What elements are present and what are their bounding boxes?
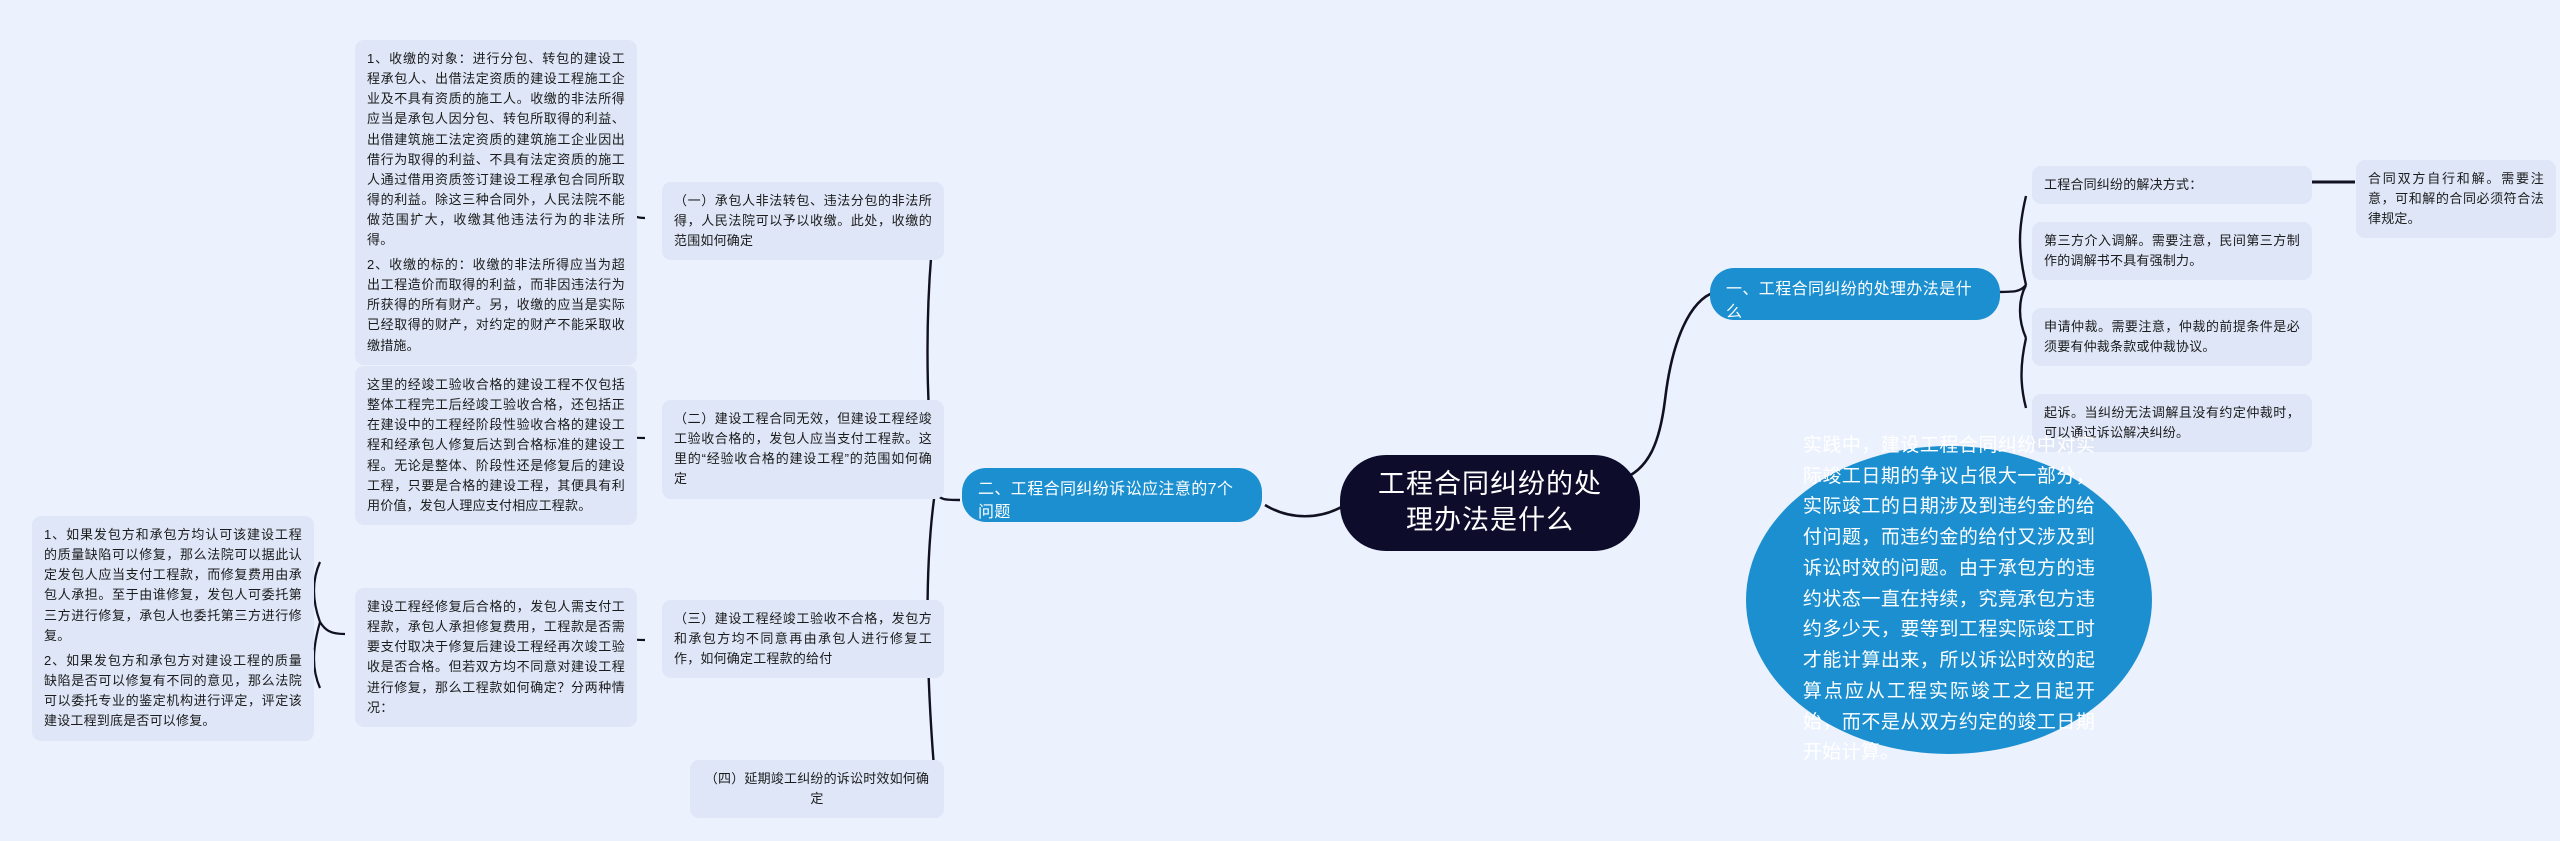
branch2-item-2-text: （二）建设工程合同无效，但建设工程经竣工验收合格的，发包人应当支付工程款。这里的… [674,411,932,486]
branch2-item-1-text: （一）承包人非法转包、违法分包的非法所得，人民法院可以予以收缴。此处，收缴的范围… [674,193,932,248]
branch1-group-label-text: 工程合同纠纷的解决方式： [2044,177,2202,192]
branch2-item-3-text: （三）建设工程经竣工验收不合格，发包方和承包方均不同意再由承包人进行修复工作，如… [674,611,932,666]
branch2-item-4-text: （四）延期竣工纠纷的诉讼时效如何确定 [705,771,929,806]
branch2-item-1-child-1[interactable]: 1、收缴的对象：进行分包、转包的建设工程承包人、出借法定资质的建设工程施工企业及… [355,40,637,259]
branch2-item-1[interactable]: （一）承包人非法转包、违法分包的非法所得，人民法院可以予以收缴。此处，收缴的范围… [662,182,944,260]
branch-node-2-label: 二、工程合同纠纷诉讼应注意的7个问题 [978,481,1233,521]
branch2-item-3-grandchild-2[interactable]: 2、如果发包方和承包方对建设工程的质量缺陷是否可以修复有不同的意见，那么法院可以… [32,642,314,741]
branch1-group-label[interactable]: 工程合同纠纷的解决方式： [2032,166,2312,204]
branch1-method-1[interactable]: 合同双方自行和解。需要注意，可和解的合同必须符合法律规定。 [2356,160,2556,238]
branch2-item-3-child-1[interactable]: 建设工程经修复后合格的，发包人需支付工程款，承包人承担修复费用，工程款是否需要支… [355,588,637,727]
branch2-item-3-grandchild-1[interactable]: 1、如果发包方和承包方均认可该建设工程的质量缺陷可以修复，那么法院可以据此认定发… [32,516,314,655]
branch1-method-3-text: 申请仲裁。需要注意，仲裁的前提条件是必须要有仲裁条款或仲裁协议。 [2044,319,2300,354]
branch2-item-4[interactable]: （四）延期竣工纠纷的诉讼时效如何确定 [690,760,944,818]
branch2-item-2-child-1[interactable]: 这里的经竣工验收合格的建设工程不仅包括整体工程完工后经竣工验收合格，还包括正在建… [355,366,637,525]
branch1-method-3[interactable]: 申请仲裁。需要注意，仲裁的前提条件是必须要有仲裁条款或仲裁协议。 [2032,308,2312,366]
branch2-item-1-child-2[interactable]: 2、收缴的标的：收缴的非法所得应当为超出工程造价而取得的利益，而非因违法行为所获… [355,246,637,365]
mindmap-canvas: 工程合同纠纷的处理办法是什么 一、工程合同纠纷的处理办法是什么 工程合同纠纷的解… [0,0,2560,841]
branch2-item-2-child-1-text: 这里的经竣工验收合格的建设工程不仅包括整体工程完工后经竣工验收合格，还包括正在建… [367,377,625,513]
branch1-method-1-text: 合同双方自行和解。需要注意，可和解的合同必须符合法律规定。 [2368,171,2544,226]
branch2-item-3-child-1-text: 建设工程经修复后合格的，发包人需支付工程款，承包人承担修复费用，工程款是否需要支… [367,599,625,715]
branch-node-1-label: 一、工程合同纠纷的处理办法是什么 [1726,281,1972,321]
summary-bubble[interactable]: 实践中，建设工程合同纠纷中对实际竣工日期的争议占很大一部分，实际竣工的日期涉及到… [1746,446,2152,754]
branch2-item-1-child-1-text: 1、收缴的对象：进行分包、转包的建设工程承包人、出借法定资质的建设工程施工企业及… [367,51,625,247]
branch2-item-3-grandchild-1-text: 1、如果发包方和承包方均认可该建设工程的质量缺陷可以修复，那么法院可以据此认定发… [44,527,302,643]
branch-node-1[interactable]: 一、工程合同纠纷的处理办法是什么 [1710,268,2000,320]
branch2-item-1-child-2-text: 2、收缴的标的：收缴的非法所得应当为超出工程造价而取得的利益，而非因违法行为所获… [367,257,625,353]
branch1-method-2[interactable]: 第三方介入调解。需要注意，民间第三方制作的调解书不具有强制力。 [2032,222,2312,280]
summary-bubble-text: 实践中，建设工程合同纠纷中对实际竣工日期的争议占很大一部分，实际竣工的日期涉及到… [1803,431,2095,769]
center-node-title: 工程合同纠纷的处理办法是什么 [1366,467,1614,538]
branch2-item-3[interactable]: （三）建设工程经竣工验收不合格，发包方和承包方均不同意再由承包人进行修复工作，如… [662,600,944,678]
branch-node-2[interactable]: 二、工程合同纠纷诉讼应注意的7个问题 [962,468,1262,522]
branch1-method-2-text: 第三方介入调解。需要注意，民间第三方制作的调解书不具有强制力。 [2044,233,2300,268]
branch2-item-3-grandchild-2-text: 2、如果发包方和承包方对建设工程的质量缺陷是否可以修复有不同的意见，那么法院可以… [44,653,302,728]
center-node[interactable]: 工程合同纠纷的处理办法是什么 [1340,455,1640,551]
branch2-item-2[interactable]: （二）建设工程合同无效，但建设工程经竣工验收合格的，发包人应当支付工程款。这里的… [662,400,944,499]
